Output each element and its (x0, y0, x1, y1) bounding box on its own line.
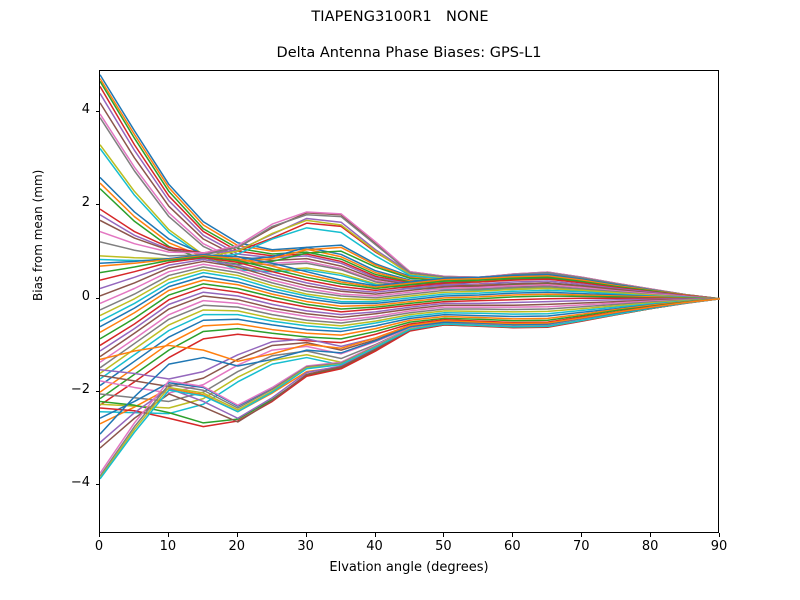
y-tick-mark (96, 111, 100, 112)
x-tick-mark (306, 533, 307, 537)
x-tick-mark (581, 533, 582, 537)
chart-title: Delta Antenna Phase Biases: GPS-L1 (99, 45, 719, 61)
y-tick-mark (96, 298, 100, 299)
x-tick-mark (237, 533, 238, 537)
x-tick-mark (443, 533, 444, 537)
y-tick-label: −2 (50, 382, 90, 397)
y-tick-label: 2 (50, 195, 90, 210)
x-axis-label: Elvation angle (degrees) (99, 560, 719, 575)
x-tick-mark (99, 533, 100, 537)
chart-lines-svg (100, 71, 720, 534)
x-tick-mark (512, 533, 513, 537)
figure-suptitle: TIAPENG3100R1 NONE (0, 9, 800, 25)
figure-canvas: TIAPENG3100R1 NONE Delta Antenna Phase B… (0, 0, 800, 600)
x-tick-mark (650, 533, 651, 537)
x-tick-mark (168, 533, 169, 537)
x-tick-label: 50 (423, 539, 463, 554)
x-tick-label: 30 (286, 539, 326, 554)
chart-line (100, 299, 720, 423)
x-tick-label: 60 (492, 539, 532, 554)
x-tick-label: 70 (561, 539, 601, 554)
x-tick-label: 40 (355, 539, 395, 554)
x-tick-mark (719, 533, 720, 537)
y-tick-label: 4 (50, 102, 90, 117)
x-tick-label: 20 (217, 539, 257, 554)
chart-line (100, 75, 720, 299)
y-tick-label: 0 (50, 289, 90, 304)
x-tick-label: 0 (79, 539, 119, 554)
x-tick-mark (375, 533, 376, 537)
chart-line (100, 93, 720, 298)
x-tick-label: 10 (148, 539, 188, 554)
y-tick-mark (96, 204, 100, 205)
y-tick-mark (96, 391, 100, 392)
x-tick-label: 80 (630, 539, 670, 554)
y-axis-label: Bias from mean (mm) (31, 170, 45, 301)
y-tick-label: −4 (50, 475, 90, 490)
y-tick-mark (96, 484, 100, 485)
plot-area (99, 70, 719, 533)
chart-line (100, 299, 720, 424)
x-tick-label: 90 (699, 539, 739, 554)
y-axis-label-wrap: Bias from mean (mm) (0, 0, 1, 1)
